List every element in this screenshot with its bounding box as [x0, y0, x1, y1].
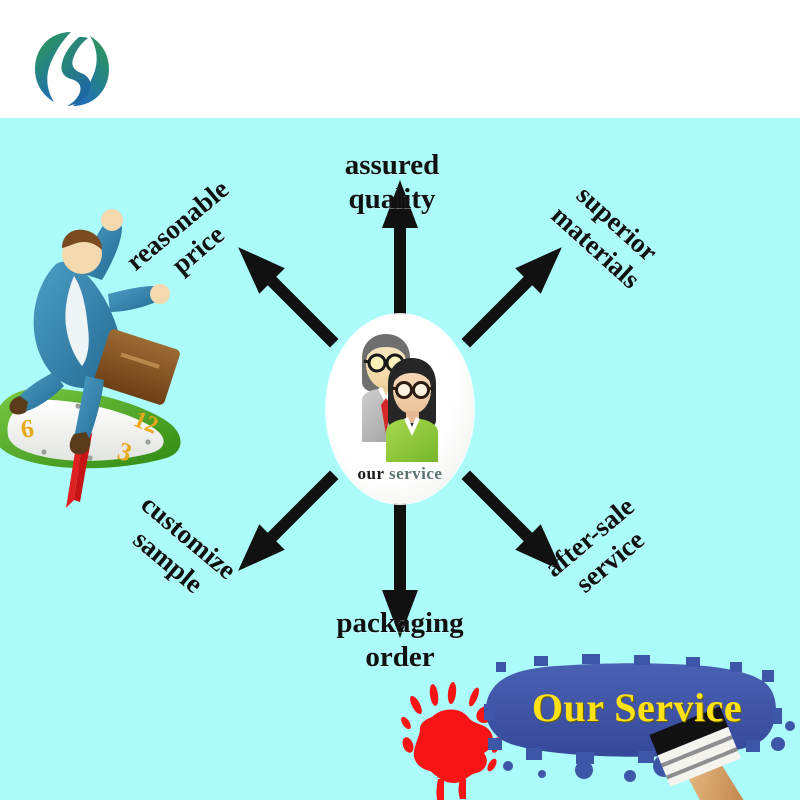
banner-text: Our Service	[506, 684, 768, 731]
center-oval: our service	[326, 314, 474, 504]
label-line2: order	[300, 640, 500, 674]
header-band	[0, 0, 800, 118]
page-canvas: our service assured quality superior mat…	[0, 0, 800, 800]
label-line2: quality	[292, 182, 492, 216]
company-logo-icon	[30, 27, 114, 111]
label-line1: assured	[345, 149, 440, 181]
businessman-clock-illustration: 12 3 6	[0, 190, 197, 520]
center-caption-word2: service	[389, 464, 443, 483]
center-caption-word1: our	[358, 464, 385, 483]
our-service-banner: Our Service	[478, 648, 800, 800]
label-line1: packaging	[336, 607, 463, 639]
label-assured-quality: assured quality	[292, 148, 492, 216]
diagram-stage: our service assured quality superior mat…	[0, 118, 800, 800]
woman-figure	[386, 358, 438, 462]
arrow-up-right	[453, 234, 575, 356]
center-caption: our service	[326, 464, 474, 484]
two-people-icon	[340, 330, 460, 462]
label-packaging-order: packaging order	[300, 606, 500, 674]
fist	[101, 209, 123, 231]
hand	[150, 284, 170, 304]
arrow-up-left	[225, 234, 347, 356]
